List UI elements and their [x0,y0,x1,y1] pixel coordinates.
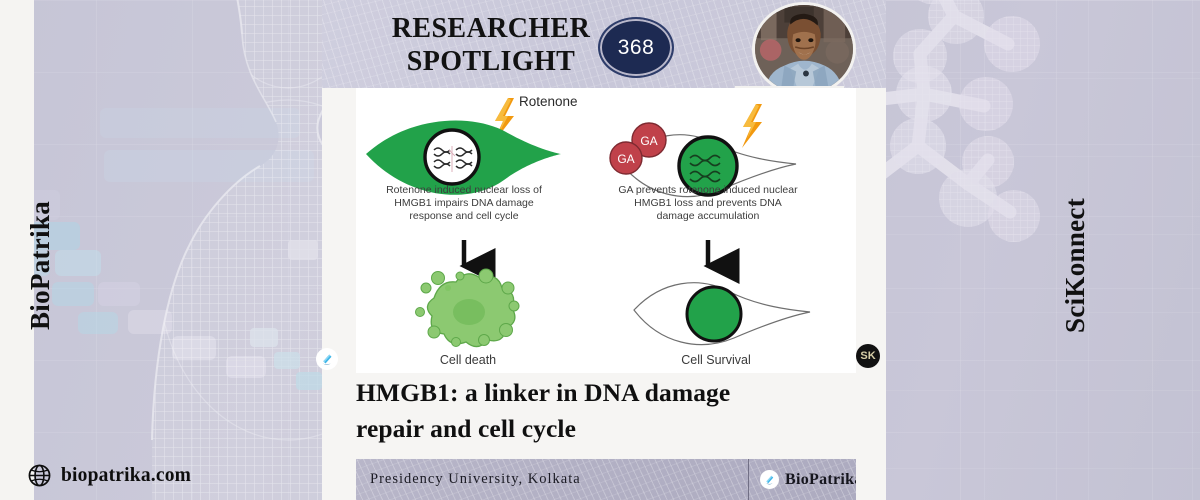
outcome-label-left: Cell death [440,353,496,367]
biopatrika-logo-icon [316,348,338,370]
footer-brand-text: BioPatrika [785,471,856,489]
article-title: HMGB1: a linker in DNA damage repair and… [356,375,826,447]
brand-right-vertical: SciKonnect [1060,198,1091,333]
poster-canvas: RESEARCHER SPOTLIGHT 368 Soura [0,0,1200,500]
caption-left-3: response and cell cycle [409,210,518,222]
site-watermark: biopatrika.com [28,464,191,487]
footer-brand: BioPatrika [760,470,856,489]
footer-divider [748,459,749,500]
affiliation-text: Presidency University, Kolkata [370,471,581,488]
page-title: RESEARCHER SPOTLIGHT [386,12,596,78]
page-title-line2: SPOTLIGHT [386,45,596,78]
outcome-label-right: Cell Survival [681,353,750,367]
article-title-line1: HMGB1: a linker in DNA damage [356,375,826,411]
count-badge: 368 [598,17,674,78]
molecule-graphic [880,0,1200,312]
footer-bar: Presidency University, Kolkata BioPatrik… [356,458,856,500]
avatar [752,2,856,96]
research-figure: Rotenone Rotenone induced nuclear loss o… [356,88,856,373]
count-badge-value: 368 [618,36,655,60]
drug-label-2: GA [617,152,634,166]
page-title-line1: RESEARCHER [386,12,596,45]
scikonnect-logo-text: SK [860,350,875,362]
biopatrika-logo-icon-footer [760,470,779,489]
globe-icon [28,464,51,487]
scikonnect-logo-icon: SK [856,344,880,368]
stimulus-label-left: Rotenone [519,94,578,109]
healthy-cell-icon [687,287,741,341]
article-title-line2: repair and cell cycle [356,411,826,447]
caption-left-1: Rotenone induced nuclear loss of [386,184,542,196]
caption-left-2: HMGB1 impairs DNA damage [394,197,534,209]
site-watermark-text: biopatrika.com [61,465,191,487]
drug-label-1: GA [640,134,657,148]
caption-right-2: HMGB1 loss and prevents DNA [634,197,782,209]
brand-left-vertical: BioPatrika [25,201,56,330]
caption-right-3: damage accumulation [657,210,760,222]
figure-svg: Rotenone Rotenone induced nuclear loss o… [356,88,856,373]
caption-right-1: GA prevents rotenone induced nuclear [618,184,798,196]
